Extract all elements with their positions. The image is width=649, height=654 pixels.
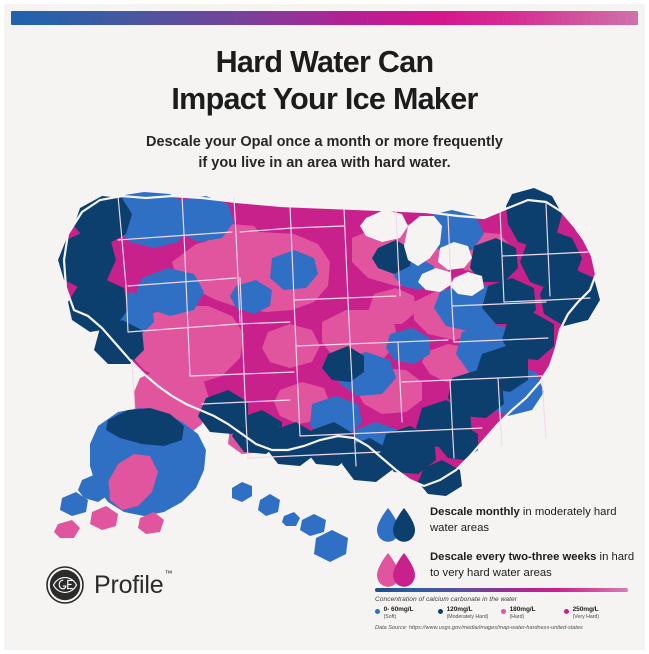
legend-value-moderately-hard: 120mg/L	[447, 607, 489, 614]
legend-sub-moderately-hard: (Moderately Hard)	[447, 615, 489, 620]
legend-value-soft: 0- 60mg/L	[384, 607, 414, 614]
callout-pink-bold: Descale every two-three weeks	[430, 551, 596, 563]
infographic-card: Hard Water Can Impact Your Ice Maker Des…	[4, 4, 645, 650]
callout-pink-text: Descale every two-three weeks in hard to…	[430, 550, 645, 581]
ge-profile-logo: Profile™	[46, 566, 171, 604]
title-line-2: Impact Your Ice Maker	[4, 81, 645, 118]
subtitle-line-2: if you live in an area with hard water.	[4, 153, 645, 174]
legend-sub-soft: (Soft)	[384, 615, 414, 620]
legend-item-soft: 0- 60mg/L (Soft)	[375, 607, 438, 620]
legend-sub-very-hard: (Very Hard)	[573, 615, 600, 620]
callout-blue-text: Descale monthly in moderately hard water…	[430, 505, 645, 536]
trademark-symbol: ™	[164, 569, 172, 578]
legend-item-moderately-hard: 120mg/L (Moderately Hard)	[438, 607, 501, 620]
hardness-legend: Concentration of calcium carbonate in th…	[375, 588, 628, 620]
legend-items: 0- 60mg/L (Soft) 120mg/L (Moderately Har…	[375, 607, 628, 620]
legend-item-very-hard: 250mg/L (Very Hard)	[564, 607, 627, 620]
ge-monogram-icon	[46, 566, 84, 604]
callout-pink: Descale every two-three weeks in hard to…	[375, 550, 645, 591]
blue-water-drops-icon	[375, 506, 419, 546]
title-line-1: Hard Water Can	[4, 44, 645, 81]
subtitle-line-1: Descale your Opal once a month or more f…	[4, 132, 645, 153]
pink-water-drops-icon	[375, 551, 419, 591]
top-gradient-bar	[11, 11, 638, 25]
profile-wordmark: Profile™	[94, 571, 171, 600]
page-title: Hard Water Can Impact Your Ice Maker	[4, 44, 645, 118]
legend-value-hard: 180mg/L	[510, 607, 536, 614]
legend-sub-hard: (Hard)	[510, 615, 536, 620]
callout-blue: Descale monthly in moderately hard water…	[375, 505, 645, 546]
legend-dot-moderately-hard	[438, 609, 443, 614]
legend-item-hard: 180mg/L (Hard)	[501, 607, 564, 620]
legend-dot-hard	[501, 609, 506, 614]
legend-caption: Concentration of calcium carbonate in th…	[375, 596, 628, 603]
page-subtitle: Descale your Opal once a month or more f…	[4, 132, 645, 174]
legend-dot-very-hard	[564, 609, 569, 614]
legend-dot-soft	[375, 609, 380, 614]
callout-blue-bold: Descale monthly	[430, 506, 520, 518]
legend-value-very-hard: 250mg/L	[573, 607, 600, 614]
data-source-note: Data Source: https://www.usgs.gov/media/…	[375, 625, 583, 631]
legend-gradient-bar	[375, 588, 628, 592]
